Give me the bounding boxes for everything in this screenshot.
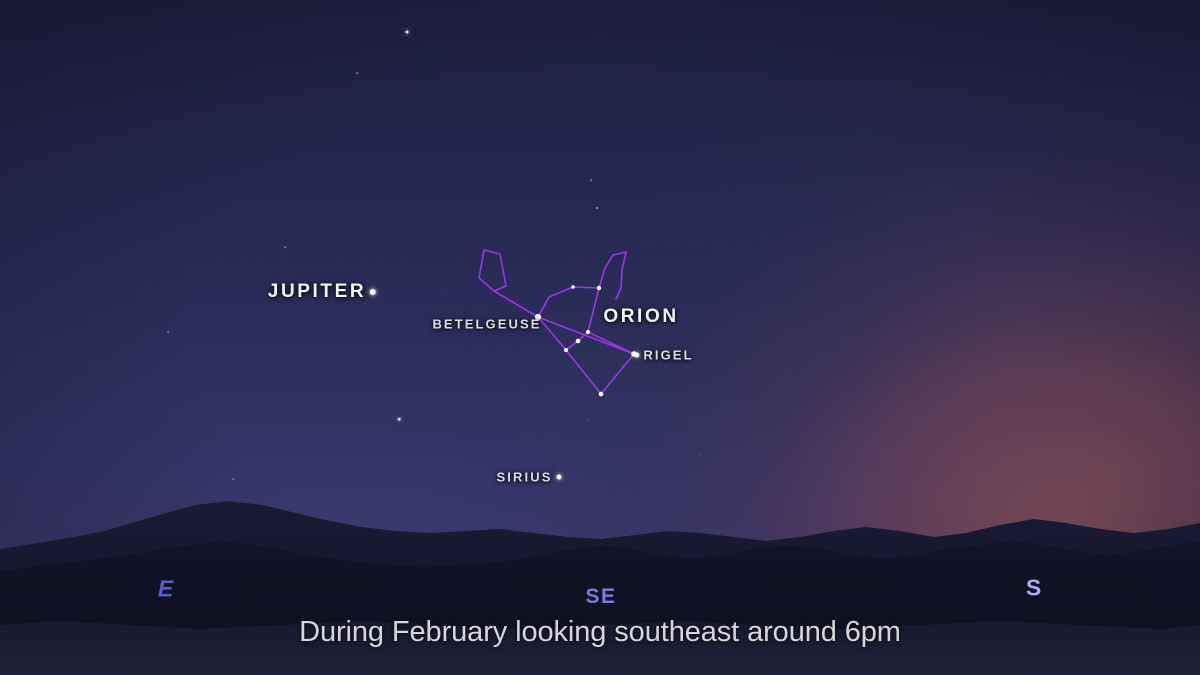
sky-chart: JUPITERORIONBETELGEUSERIGELSIRIUS [0, 0, 1200, 675]
star-meissa [571, 285, 575, 289]
label-jupiter[interactable]: JUPITER [268, 281, 376, 303]
label-row: BETELGEUSE [432, 317, 541, 332]
star-marker-jupiter [370, 289, 376, 295]
star-marker-rigel [634, 353, 639, 358]
label-row: RIGEL [634, 348, 693, 363]
label-text: ORION [603, 306, 678, 328]
label-row: JUPITER [268, 281, 376, 303]
star-bellatrix [597, 286, 601, 290]
label-text: BETELGEUSE [432, 317, 541, 332]
label-rigel[interactable]: RIGEL [634, 348, 693, 363]
label-betelgeuse[interactable]: BETELGEUSE [432, 317, 541, 332]
caption-text: During February looking southeast around… [299, 616, 901, 649]
constellation-line-saiph-belt [566, 350, 601, 394]
star-mintaka [586, 330, 590, 334]
constellation-line-rigel-saiph [601, 354, 634, 394]
compass-south: S [1026, 575, 1042, 602]
label-orion[interactable]: ORION [603, 306, 678, 328]
star-alnitak [564, 348, 568, 352]
constellation-line-bellatrix-belt [588, 288, 599, 332]
compass-east: E [158, 576, 174, 603]
label-text: JUPITER [268, 281, 366, 303]
compass-southeast: SE [585, 585, 616, 609]
label-row: ORION [603, 306, 678, 328]
label-text: RIGEL [643, 348, 693, 363]
constellation-line-shoulder-arm [538, 287, 599, 317]
constellation-line-club-arm [494, 291, 538, 317]
constellation-stars [535, 285, 637, 396]
constellation-line-shield-arc [616, 252, 626, 299]
star-saiph [599, 392, 604, 397]
constellation-line-club-upper [479, 250, 506, 291]
star-alnilam [576, 339, 581, 344]
